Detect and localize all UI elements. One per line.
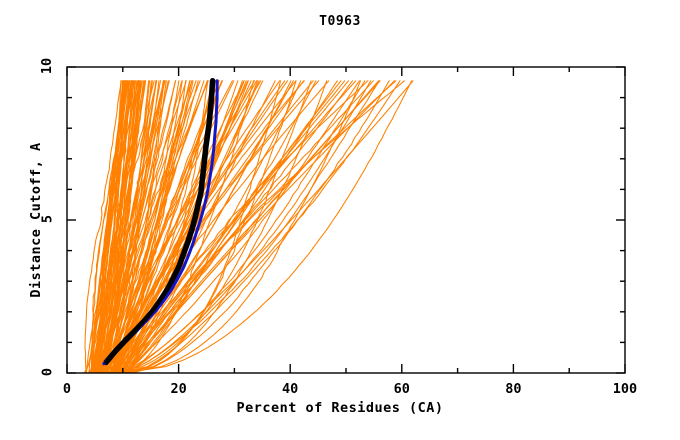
y-tick-label: 10 bbox=[39, 57, 55, 75]
x-tick-label: 80 bbox=[505, 381, 521, 397]
y-tick-label: 5 bbox=[39, 215, 55, 224]
x-tick-label: 0 bbox=[63, 381, 71, 397]
x-tick-label: 20 bbox=[170, 381, 186, 397]
x-tick-label: 40 bbox=[282, 381, 298, 397]
y-tick-label: 0 bbox=[39, 368, 55, 377]
x-tick-label: 60 bbox=[394, 381, 410, 397]
x-tick-label: 100 bbox=[613, 381, 637, 397]
plot-area bbox=[0, 0, 680, 440]
chart-canvas: T0963 Percent of Residues (CA) Distance … bbox=[0, 0, 680, 440]
